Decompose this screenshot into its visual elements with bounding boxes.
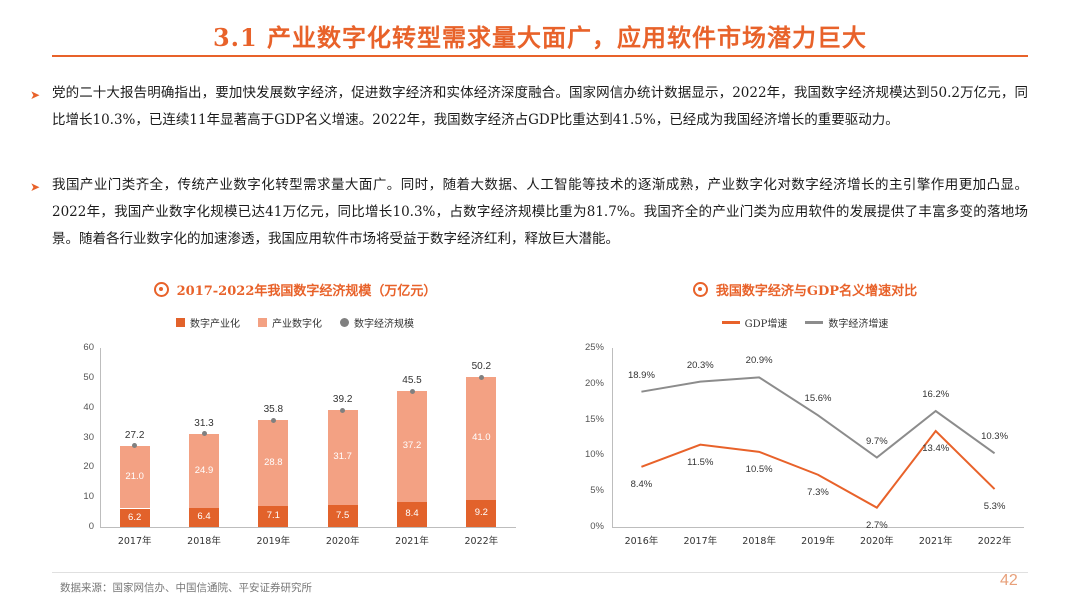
- y-axis-tick: 40: [68, 402, 94, 413]
- data-point-label: 7.3%: [792, 487, 844, 498]
- legend-swatch-icon: [340, 318, 349, 327]
- bar-value-base: 8.4: [391, 508, 433, 519]
- bar-value-base: 6.2: [114, 512, 156, 523]
- x-axis-tick: 2019年: [788, 533, 848, 547]
- chart-left-header: 2017-2022年我国数字经济规模（万亿元）: [60, 278, 530, 300]
- bullet-arrow-icon: ➤: [30, 82, 40, 109]
- chart-right-header: 我国数字经济与GDP名义增速对比: [570, 278, 1040, 300]
- page-title: 3.1 产业数字化转型需求量大面广，应用软件市场潜力巨大: [0, 18, 1080, 53]
- legend-swatch-icon: [258, 318, 267, 327]
- paragraph-2-text: 我国产业门类齐全，传统产业数字化转型需求量大面广。同时，随着大数据、人工智能等技…: [52, 172, 1028, 253]
- data-point-label: 20.9%: [733, 355, 785, 366]
- x-axis-tick: 2022年: [451, 533, 511, 547]
- chart-left-title: 2017-2022年我国数字经济规模（万亿元）: [177, 280, 437, 299]
- scale-marker-dot: [271, 418, 276, 423]
- data-point-label: 13.4%: [910, 443, 962, 454]
- source-note: 数据来源：国家网信办、中国信通院、平安证券研究所: [60, 580, 760, 595]
- bar-total-label: 31.3: [182, 418, 226, 429]
- legend-label-0: 数字产业化: [190, 315, 240, 330]
- bar-value-base: 9.2: [460, 507, 502, 518]
- bar-total-label: 35.8: [251, 404, 295, 415]
- data-point-label: 10.5%: [733, 464, 785, 475]
- scale-marker-dot: [410, 389, 415, 394]
- x-axis-tick: 2017年: [670, 533, 730, 547]
- legend-item-1: 产业数字化: [258, 315, 322, 330]
- y-axis-tick: 10: [68, 491, 94, 502]
- bar-value-top: 28.8: [252, 457, 294, 468]
- x-axis-tick: 2021年: [382, 533, 442, 547]
- x-axis-tick: 2020年: [313, 533, 373, 547]
- data-point-label: 5.3%: [969, 501, 1021, 512]
- x-axis-tick: 2021年: [906, 533, 966, 547]
- data-point-label: 20.3%: [674, 360, 726, 371]
- page-number: 42: [1000, 572, 1040, 590]
- scale-marker-dot: [340, 408, 345, 413]
- target-dot-icon: [154, 282, 169, 297]
- x-axis-line: [100, 527, 516, 528]
- y-axis-tick: 20: [68, 461, 94, 472]
- scale-marker-dot: [202, 431, 207, 436]
- chart-right-title: 我国数字经济与GDP名义增速对比: [716, 280, 917, 299]
- left-edge: [0, 0, 6, 608]
- paragraph-1: ➤ 党的二十大报告明确指出，要加快发展数字经济，促进数字经济和实体经济深度融合。…: [52, 80, 1028, 134]
- y-axis-line: [100, 348, 101, 527]
- data-point-label: 2.7%: [851, 520, 903, 531]
- chart-gdp-vs-digital-growth: 我国数字经济与GDP名义增速对比 GDP增速 数字经济增速 0%5%10%15%…: [570, 278, 1040, 568]
- bar-value-top: 31.7: [322, 451, 364, 462]
- legend-item-2: 数字经济规模: [340, 315, 414, 330]
- legend-swatch-icon: [176, 318, 185, 327]
- y-axis-tick: 50: [68, 372, 94, 383]
- slide-page: 3.1 产业数字化转型需求量大面广，应用软件市场潜力巨大 ➤ 党的二十大报告明确…: [0, 0, 1080, 608]
- data-point-label: 8.4%: [615, 479, 667, 490]
- legend-label-0: GDP增速: [745, 315, 788, 330]
- x-axis-tick: 2022年: [965, 533, 1025, 547]
- bar-total-label: 39.2: [321, 394, 365, 405]
- chart-right-legend: GDP增速 数字经济增速: [570, 314, 1040, 330]
- x-axis-tick: 2017年: [105, 533, 165, 547]
- y-axis-tick: 0: [68, 521, 94, 532]
- bar-value-top: 21.0: [114, 471, 156, 482]
- chart-left-legend: 数字产业化 产业数字化 数字经济规模: [60, 314, 530, 330]
- bar-total-label: 50.2: [459, 361, 503, 372]
- legend-label-1: 产业数字化: [272, 315, 322, 330]
- chart-left-plot: 01020304050606.221.027.22017年6.424.931.3…: [60, 338, 530, 553]
- x-axis-tick: 2019年: [243, 533, 303, 547]
- legend-line-icon: [805, 321, 823, 324]
- target-dot-icon: [693, 282, 708, 297]
- data-point-label: 15.6%: [792, 393, 844, 404]
- title-area: 3.1 产业数字化转型需求量大面广，应用软件市场潜力巨大: [0, 18, 1080, 53]
- x-axis-tick: 2018年: [174, 533, 234, 547]
- bar-total-label: 27.2: [113, 430, 157, 441]
- bar-value-base: 6.4: [183, 511, 225, 522]
- bar-value-top: 24.9: [183, 465, 225, 476]
- bar-total-label: 45.5: [390, 375, 434, 386]
- paragraph-1-text: 党的二十大报告明确指出，要加快发展数字经济，促进数字经济和实体经济深度融合。国家…: [52, 80, 1028, 134]
- data-point-label: 18.9%: [615, 370, 667, 381]
- chart-right-plot: 0%5%10%15%20%25%8.4%11.5%10.5%7.3%2.7%13…: [570, 338, 1040, 553]
- paragraph-2: ➤ 我国产业门类齐全，传统产业数字化转型需求量大面广。同时，随着大数据、人工智能…: [52, 172, 1028, 253]
- y-axis-tick: 30: [68, 432, 94, 443]
- data-point-label: 9.7%: [851, 436, 903, 447]
- x-axis-tick: 2018年: [729, 533, 789, 547]
- data-point-label: 16.2%: [910, 389, 962, 400]
- legend-label-1: 数字经济增速: [828, 315, 888, 330]
- y-axis-tick: 60: [68, 342, 94, 353]
- legend-item-0: 数字产业化: [176, 315, 240, 330]
- legend-item-0: GDP增速: [722, 315, 788, 330]
- bar-value-top: 41.0: [460, 432, 502, 443]
- x-axis-tick: 2016年: [611, 533, 671, 547]
- footer-divider: [52, 572, 1028, 573]
- title-divider: [52, 55, 1028, 57]
- scale-marker-dot: [479, 375, 484, 380]
- x-axis-tick: 2020年: [847, 533, 907, 547]
- data-point-label: 10.3%: [969, 431, 1021, 442]
- bar-value-top: 37.2: [391, 440, 433, 451]
- bar-value-base: 7.1: [252, 510, 294, 521]
- bar-value-base: 7.5: [322, 510, 364, 521]
- bullet-arrow-icon: ➤: [30, 174, 40, 201]
- legend-label-2: 数字经济规模: [354, 315, 414, 330]
- data-point-label: 11.5%: [674, 457, 726, 468]
- legend-line-icon: [722, 321, 740, 324]
- legend-item-1: 数字经济增速: [805, 315, 888, 330]
- chart-digital-economy-scale: 2017-2022年我国数字经济规模（万亿元） 数字产业化 产业数字化 数字经济…: [60, 278, 530, 568]
